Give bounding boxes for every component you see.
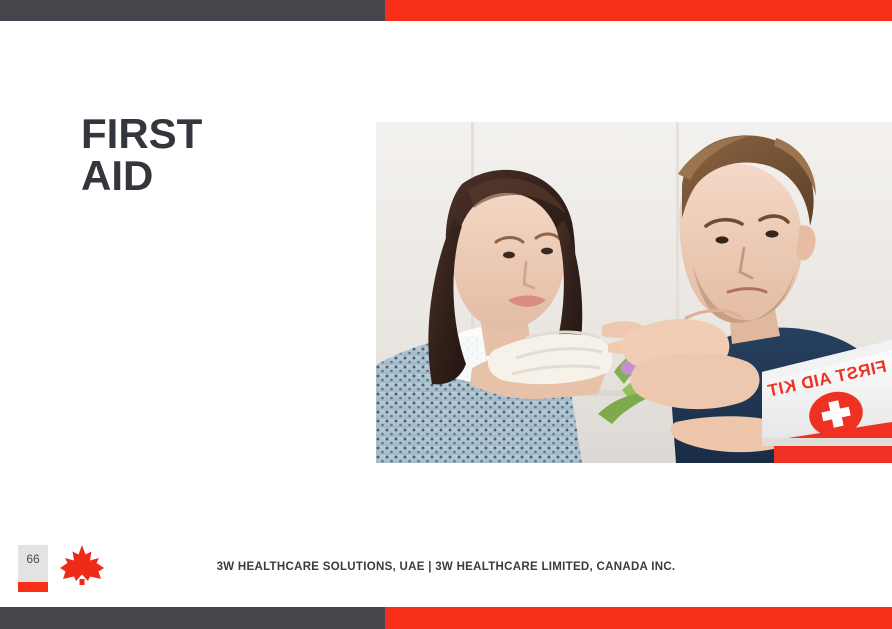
first-aid-photo: FIRST AID KIT [376,122,892,463]
slide-title: FIRST AID [81,113,381,197]
photo-illustration: FIRST AID KIT [376,122,892,463]
top-bar [0,0,892,21]
bottom-bar [0,607,892,629]
footer-company-text: 3W HEALTHCARE SOLUTIONS, UAE | 3W HEALTH… [0,561,892,573]
slide-title-line-1: FIRST [81,113,381,155]
slide: FIRST AID [0,0,892,629]
slide-title-line-2: AID [81,155,381,197]
top-bar-red-segment [385,0,892,21]
page-badge-accent [18,582,48,592]
bottom-bar-dark-segment [0,607,385,629]
top-bar-dark-segment [0,0,385,21]
bottom-bar-red-segment [385,607,892,629]
